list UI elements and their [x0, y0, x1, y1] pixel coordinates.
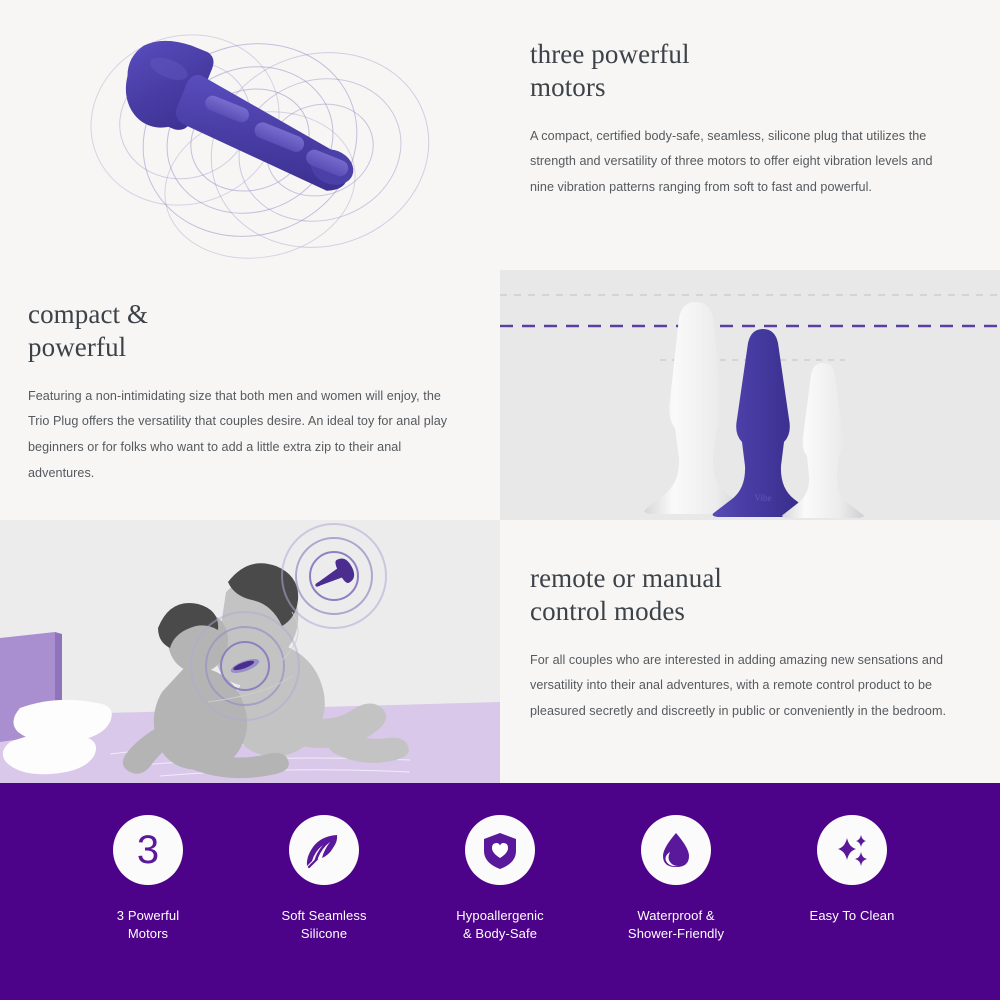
panel-size-comparison: Vibe	[500, 270, 1000, 520]
feather-glyph	[304, 830, 344, 870]
product-hero-image	[0, 0, 500, 270]
compact-powerful-text: compact & powerful Featuring a non-intim…	[0, 270, 500, 486]
remote-manual-body: For all couples who are interested in ad…	[530, 648, 960, 725]
feature-three-motors: 3 3 Powerful Motors	[60, 815, 236, 943]
feature-label: 3 Powerful Motors	[117, 907, 179, 943]
number-three-glyph: 3	[137, 830, 159, 870]
product-feature-page: three powerful motors A compact, certifi…	[0, 0, 1000, 1000]
panel-remote-manual: remote or manual control modes For all c…	[500, 520, 1000, 783]
feature-label: Easy To Clean	[810, 907, 895, 925]
plug-large-grey	[645, 302, 748, 514]
feature-waterproof: Waterproof & Shower-Friendly	[588, 815, 764, 943]
couple-illustration-image	[0, 520, 500, 783]
feature-soft-silicone: Soft Seamless Silicone	[236, 815, 412, 943]
panel-grid: three powerful motors A compact, certifi…	[0, 0, 1000, 783]
three-motors-text: three powerful motors A compact, certifi…	[500, 0, 1000, 201]
sparkles-icon	[817, 815, 887, 885]
feature-label: Hypoallergenic & Body-Safe	[456, 907, 543, 943]
three-motors-body: A compact, certified body-safe, seamless…	[530, 124, 960, 201]
feature-bar: 3 3 Powerful Motors Soft Seamless Silico…	[0, 783, 1000, 1000]
panel-compact-powerful: compact & powerful Featuring a non-intim…	[0, 270, 500, 520]
sparkles-glyph	[832, 830, 872, 870]
feature-easy-clean: Easy To Clean	[764, 815, 940, 925]
size-comparison-image: Vibe	[500, 270, 1000, 520]
brand-mark: Vibe	[755, 493, 772, 503]
number-three-icon: 3	[113, 815, 183, 885]
compact-powerful-body: Featuring a non-intimidating size that b…	[28, 384, 458, 486]
panel-three-motors: three powerful motors A compact, certifi…	[500, 0, 1000, 270]
remote-manual-text: remote or manual control modes For all c…	[500, 520, 1000, 725]
feature-label: Waterproof & Shower-Friendly	[628, 907, 724, 943]
panel-product-hero	[0, 0, 500, 270]
feature-label: Soft Seamless Silicone	[281, 907, 366, 943]
remote-manual-heading: remote or manual control modes	[530, 562, 960, 628]
feather-icon	[289, 815, 359, 885]
panel-couple-illustration	[0, 520, 500, 783]
water-drop-glyph	[659, 830, 693, 870]
compact-powerful-heading: compact & powerful	[28, 298, 458, 364]
shield-heart-glyph	[481, 830, 519, 870]
shield-heart-icon	[465, 815, 535, 885]
feature-hypoallergenic: Hypoallergenic & Body-Safe	[412, 815, 588, 943]
plug-medium-purple: Vibe	[713, 329, 814, 517]
plug-small-grey	[782, 363, 864, 518]
water-drop-icon	[641, 815, 711, 885]
three-motors-heading: three powerful motors	[530, 38, 960, 104]
